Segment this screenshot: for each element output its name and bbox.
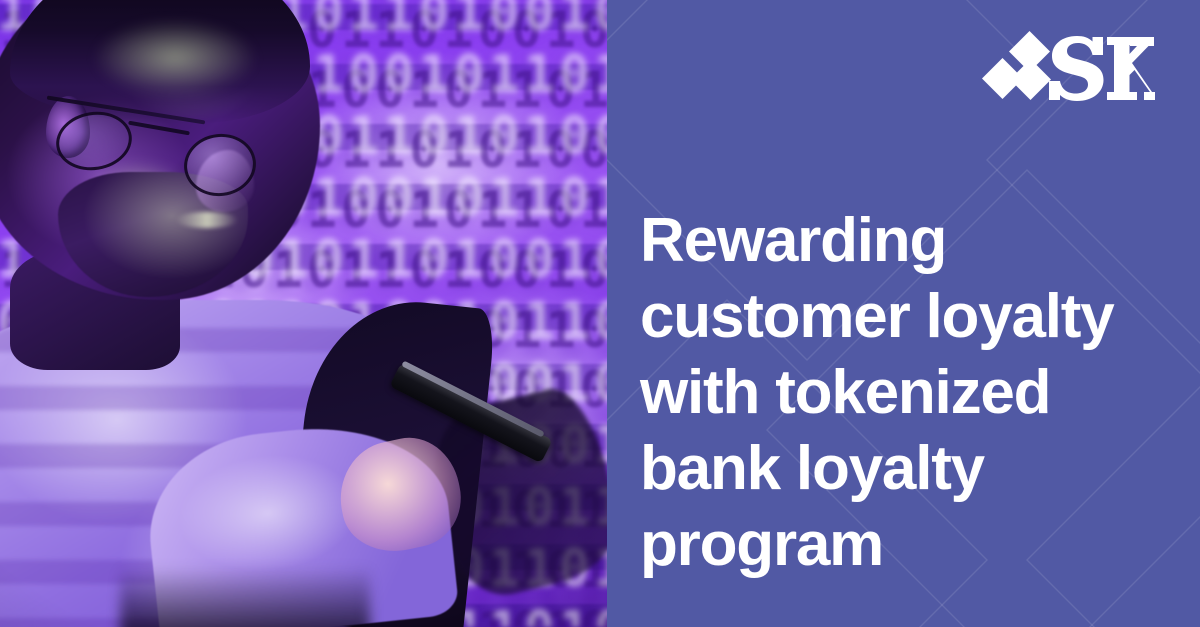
hair-highlight [90,18,260,98]
sk-logo[interactable]: SK [985,33,1155,103]
page-title: Rewarding customer loyalty with tokenize… [640,203,1185,583]
person-silhouette [0,0,607,627]
sk-diamond-mark-icon [985,33,1047,95]
hero-photo: 1001011010110100101101 01101001010010110… [0,0,607,627]
diamond-bottom-right-icon [1010,59,1051,100]
person-lips [176,212,238,228]
marketing-banner: 1001011010110100101101 01101001010010110… [0,0,1200,627]
photo-bottom-shade [120,567,370,627]
content-panel: SK Rewarding customer loyalty with token… [607,0,1200,627]
sk-wordmark: SK [1047,35,1155,101]
